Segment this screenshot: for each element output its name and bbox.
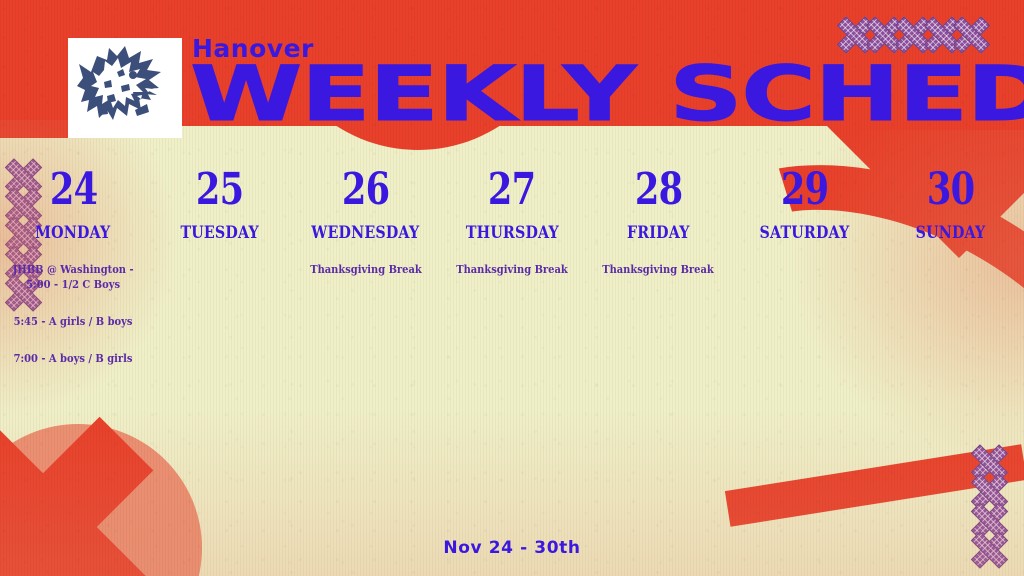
day-number: 24 <box>49 168 96 212</box>
day-number: 28 <box>635 168 682 212</box>
day-name: TUESDAY <box>180 224 258 242</box>
day-number: 26 <box>342 168 389 212</box>
day-column-thursday: 27THURSDAYThanksgiving Break <box>439 168 585 408</box>
date-range-label: Nov 24 - 30th <box>0 538 1024 558</box>
poster-header: Hanover WEEKLY SCHEDULE <box>0 0 1024 150</box>
event-item: Thanksgiving Break <box>603 262 715 277</box>
school-logo <box>68 38 182 138</box>
event-item: Thanksgiving Break <box>310 262 422 277</box>
day-number: 27 <box>488 168 535 212</box>
day-number: 30 <box>927 168 974 212</box>
day-column-monday: 24MONDAYJHBB @ Washington - 5:00 - 1/2 C… <box>0 168 146 408</box>
page-title: WEEKLY SCHEDULE <box>190 56 1024 132</box>
event-item: 7:00 - A boys / B girls <box>14 351 133 366</box>
day-column-sunday: 30SUNDAY <box>878 168 1024 408</box>
wildcat-mascot-icon <box>73 42 177 134</box>
week-grid: 24MONDAYJHBB @ Washington - 5:00 - 1/2 C… <box>0 168 1024 408</box>
day-events: Thanksgiving Break <box>299 262 433 277</box>
day-events: Thanksgiving Break <box>445 262 579 277</box>
day-events: JHBB @ Washington - 5:00 - 1/2 C Boys5:4… <box>6 262 140 366</box>
day-name: MONDAY <box>36 224 111 242</box>
weekly-schedule-poster: Hanover WEEKLY SCHEDULE 24MONDAYJHBB @ W… <box>0 0 1024 576</box>
event-item: JHBB @ Washington - 5:00 - 1/2 C Boys <box>13 262 134 292</box>
day-column-saturday: 29SATURDAY <box>731 168 877 408</box>
day-name: SATURDAY <box>760 224 850 242</box>
day-column-tuesday: 25TUESDAY <box>146 168 292 408</box>
day-name: THURSDAY <box>465 224 558 242</box>
day-name: SUNDAY <box>916 224 986 242</box>
day-name: FRIDAY <box>627 224 690 242</box>
event-item: 5:45 - A girls / B boys <box>14 314 133 329</box>
day-column-friday: 28FRIDAYThanksgiving Break <box>585 168 731 408</box>
day-column-wednesday: 26WEDNESDAYThanksgiving Break <box>293 168 439 408</box>
day-number: 29 <box>781 168 828 212</box>
day-name: WEDNESDAY <box>312 224 420 242</box>
event-item: Thanksgiving Break <box>456 262 568 277</box>
day-number: 25 <box>196 168 243 212</box>
day-events: Thanksgiving Break <box>591 262 725 277</box>
